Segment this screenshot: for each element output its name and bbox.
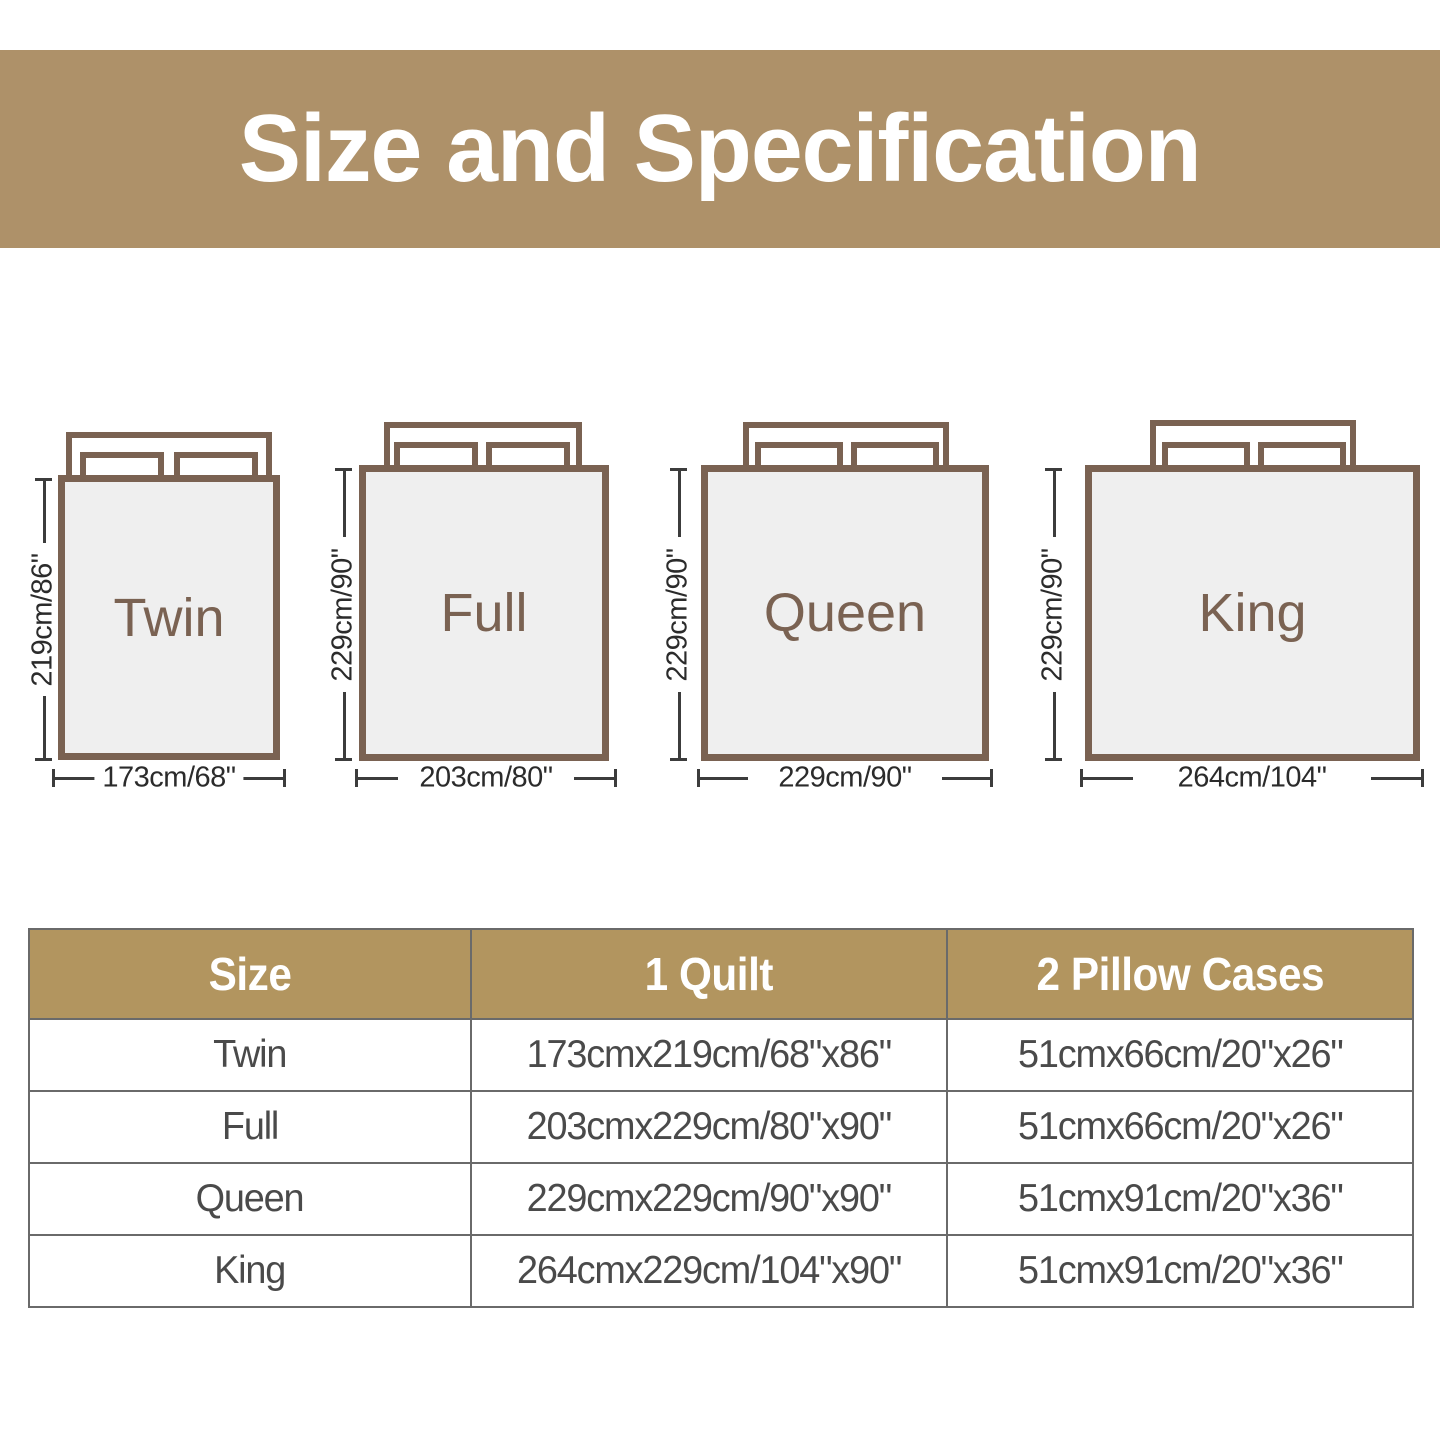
dimension-line-left xyxy=(55,777,95,780)
column-header-quilt: 1 Quilt xyxy=(471,929,947,1019)
twin-height-dimension: 219cm/86" xyxy=(28,478,58,761)
dimension-tick-bottom xyxy=(670,758,687,761)
dimension-line-upper xyxy=(678,471,681,537)
table-row: Queen 229cmx229cm/90"x90" 51cmx91cm/20"x… xyxy=(29,1163,1413,1235)
dimension-line-left xyxy=(1083,777,1133,780)
dimension-tick-bottom xyxy=(335,758,352,761)
dimension-line-upper xyxy=(1053,471,1056,537)
cell-quilt: 203cmx229cm/80"x90" xyxy=(471,1091,947,1163)
full-width-label: 203cm/80" xyxy=(411,762,560,795)
cell-quilt-text: 173cmx219cm/68"x86" xyxy=(527,1033,891,1077)
column-header-pillow-cases-text: 2 Pillow Cases xyxy=(1036,947,1324,1001)
cell-pillow: 51cmx66cm/20"x26" xyxy=(947,1091,1413,1163)
cell-size: King xyxy=(29,1235,471,1307)
full-size-label: Full xyxy=(440,586,527,640)
king-mattress: King xyxy=(1085,465,1420,761)
dimension-line-lower xyxy=(43,696,46,758)
page-title: Size and Specification xyxy=(239,101,1201,197)
cell-pillow: 51cmx91cm/20"x36" xyxy=(947,1235,1413,1307)
full-height-dimension: 229cm/90" xyxy=(328,468,358,761)
dimension-line-lower xyxy=(343,692,346,758)
column-header-pillow-cases: 2 Pillow Cases xyxy=(947,929,1413,1019)
queen-size-label: Queen xyxy=(764,586,926,640)
dimension-line-right xyxy=(1371,777,1421,780)
queen-width-label: 229cm/90" xyxy=(770,762,919,795)
bed-diagram-twin: 219cm/86" Twin 173cm/68" xyxy=(20,400,320,820)
cell-size: Full xyxy=(29,1091,471,1163)
queen-height-label: 229cm/90" xyxy=(662,545,695,684)
cell-quilt: 229cmx229cm/90"x90" xyxy=(471,1163,947,1235)
king-width-dimension: 264cm/104" xyxy=(1080,762,1424,794)
king-width-label: 264cm/104" xyxy=(1170,762,1335,795)
full-width-dimension: 203cm/80" xyxy=(355,762,617,794)
bed-diagram-full: 229cm/90" Full 203cm/80" xyxy=(320,400,660,820)
header-banner: Size and Specification xyxy=(0,50,1440,248)
cell-size-text: Queen xyxy=(196,1177,304,1221)
twin-height-label: 219cm/86" xyxy=(27,550,60,689)
cell-size-text: Full xyxy=(222,1105,278,1149)
table-header: Size 1 Quilt 2 Pillow Cases xyxy=(29,929,1413,1019)
cell-pillow: 51cmx91cm/20"x36" xyxy=(947,1163,1413,1235)
king-height-dimension: 229cm/90" xyxy=(1038,468,1068,761)
cell-quilt-text: 203cmx229cm/80"x90" xyxy=(527,1105,891,1149)
dimension-line-right xyxy=(942,777,990,780)
cell-size-text: King xyxy=(214,1249,285,1293)
table-header-row: Size 1 Quilt 2 Pillow Cases xyxy=(29,929,1413,1019)
bed-diagrams-area: 219cm/86" Twin 173cm/68" 229cm/90" Full xyxy=(0,400,1440,820)
twin-width-dimension: 173cm/68" xyxy=(52,762,286,794)
dimension-line-lower xyxy=(678,692,681,758)
table-row: Full 203cmx229cm/80"x90" 51cmx66cm/20"x2… xyxy=(29,1091,1413,1163)
column-header-size-text: Size xyxy=(209,947,292,1001)
dimension-line-right xyxy=(574,777,614,780)
table-row: Twin 173cmx219cm/68"x86" 51cmx66cm/20"x2… xyxy=(29,1019,1413,1091)
dimension-line-lower xyxy=(1053,692,1056,758)
dimension-line-upper xyxy=(43,481,46,543)
dimension-tick-right xyxy=(990,769,993,787)
queen-width-dimension: 229cm/90" xyxy=(697,762,993,794)
dimension-tick-right xyxy=(1421,769,1424,787)
cell-size-text: Twin xyxy=(213,1033,286,1077)
column-header-size: Size xyxy=(29,929,471,1019)
cell-quilt: 264cmx229cm/104"x90" xyxy=(471,1235,947,1307)
cell-pillow-text: 51cmx91cm/20"x36" xyxy=(1018,1249,1343,1293)
cell-pillow-text: 51cmx91cm/20"x36" xyxy=(1018,1177,1343,1221)
twin-size-label: Twin xyxy=(113,591,224,645)
queen-mattress: Queen xyxy=(701,465,989,761)
dimension-tick-right xyxy=(283,769,286,787)
cell-quilt-text: 229cmx229cm/90"x90" xyxy=(527,1177,891,1221)
twin-mattress: Twin xyxy=(58,475,280,760)
table-body: Twin 173cmx219cm/68"x86" 51cmx66cm/20"x2… xyxy=(29,1019,1413,1307)
king-height-label: 229cm/90" xyxy=(1037,545,1070,684)
specification-table: Size 1 Quilt 2 Pillow Cases Twin 173cmx2… xyxy=(28,928,1414,1308)
full-mattress: Full xyxy=(359,465,609,761)
dimension-tick-right xyxy=(614,769,617,787)
cell-pillow-text: 51cmx66cm/20"x26" xyxy=(1018,1033,1343,1077)
cell-size: Queen xyxy=(29,1163,471,1235)
cell-quilt-text: 264cmx229cm/104"x90" xyxy=(517,1249,901,1293)
queen-height-dimension: 229cm/90" xyxy=(663,468,693,761)
cell-quilt: 173cmx219cm/68"x86" xyxy=(471,1019,947,1091)
king-size-label: King xyxy=(1198,586,1306,640)
bed-diagram-queen: 229cm/90" Queen 229cm/90" xyxy=(655,400,1030,820)
dimension-line-left xyxy=(358,777,398,780)
twin-width-label: 173cm/68" xyxy=(94,762,243,795)
dimension-tick-bottom xyxy=(35,758,52,761)
full-height-label: 229cm/90" xyxy=(327,545,360,684)
cell-pillow-text: 51cmx66cm/20"x26" xyxy=(1018,1105,1343,1149)
bed-diagram-king: 229cm/90" King 264cm/104" xyxy=(1030,400,1440,820)
dimension-line-left xyxy=(700,777,748,780)
cell-pillow: 51cmx66cm/20"x26" xyxy=(947,1019,1413,1091)
column-header-quilt-text: 1 Quilt xyxy=(645,947,773,1001)
dimension-tick-bottom xyxy=(1045,758,1062,761)
dimension-line-right xyxy=(243,777,283,780)
dimension-line-upper xyxy=(343,471,346,537)
table-row: King 264cmx229cm/104"x90" 51cmx91cm/20"x… xyxy=(29,1235,1413,1307)
cell-size: Twin xyxy=(29,1019,471,1091)
